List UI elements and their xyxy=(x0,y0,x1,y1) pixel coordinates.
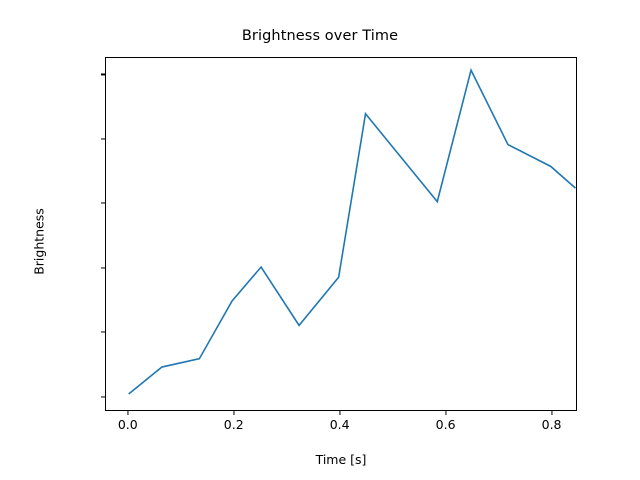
x-tick-label: 0.4 xyxy=(330,417,350,432)
x-axis-label: Time [s] xyxy=(105,452,577,467)
chart-title: Brightness over Time xyxy=(0,28,640,44)
x-tick-mark xyxy=(551,411,552,415)
x-tick-label: 0.0 xyxy=(118,417,138,432)
x-tick-mark xyxy=(445,411,446,415)
x-tick-mark xyxy=(127,411,128,415)
x-tick-mark xyxy=(233,411,234,415)
y-axis-label: Brightness xyxy=(32,182,47,302)
line-plot xyxy=(106,58,576,410)
x-tick-mark xyxy=(339,411,340,415)
matplotlib-figure: Brightness over Time 0100200300400500 0.… xyxy=(0,0,640,480)
x-tick-label: 0.2 xyxy=(224,417,244,432)
x-tick-label: 0.8 xyxy=(542,417,562,432)
plot-axes xyxy=(105,57,577,411)
brightness-data-line xyxy=(129,70,576,394)
x-tick-label: 0.6 xyxy=(436,417,456,432)
